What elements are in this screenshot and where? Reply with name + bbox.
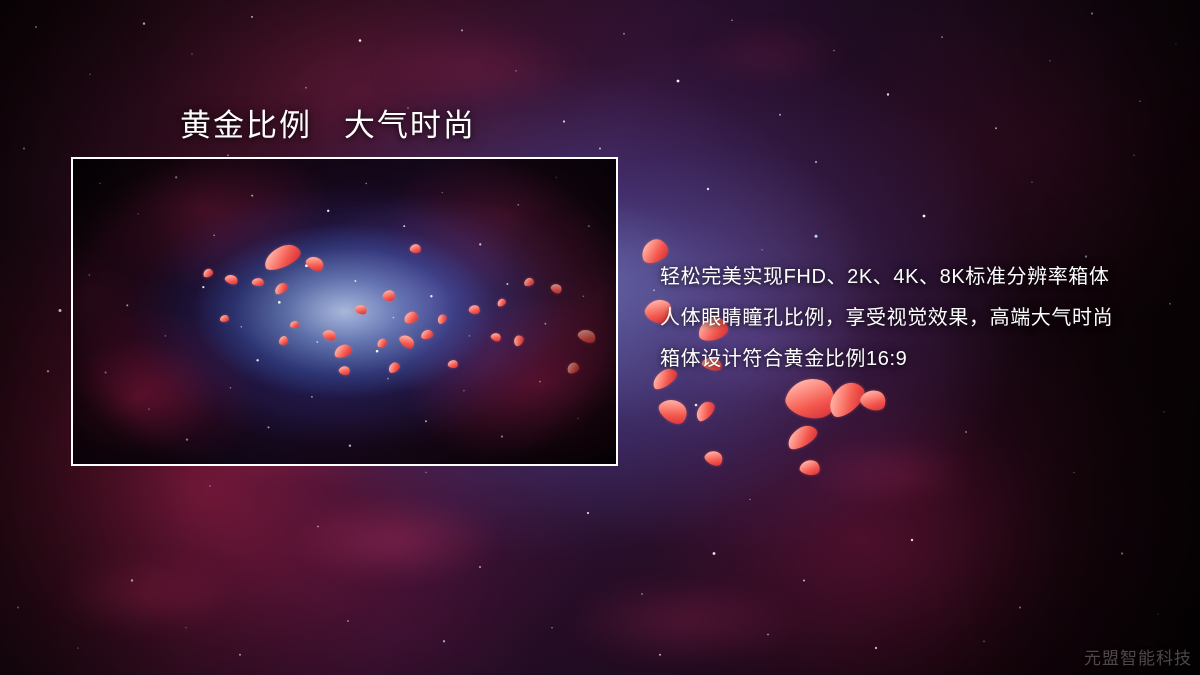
flower-petal (376, 337, 388, 348)
star (23, 148, 25, 150)
flower-petal (381, 288, 396, 302)
flower-petal (468, 304, 481, 316)
flower-petal (435, 312, 448, 325)
star (713, 552, 716, 555)
flower-petal (409, 243, 422, 255)
star (35, 26, 37, 28)
star (1157, 614, 1158, 615)
star (461, 29, 463, 31)
flower-petal (224, 272, 240, 286)
star (641, 593, 643, 595)
star (227, 154, 229, 156)
star (305, 87, 307, 89)
flower-petal (784, 422, 821, 453)
flower-petal (332, 343, 352, 359)
flower-petal (220, 315, 229, 322)
flower-petal (354, 303, 369, 316)
star (677, 80, 680, 83)
star (1139, 100, 1141, 102)
star (239, 654, 241, 656)
star (875, 647, 877, 649)
star (47, 370, 49, 372)
star (779, 114, 781, 116)
star (587, 512, 589, 514)
star (1019, 607, 1021, 609)
star (659, 654, 661, 656)
flower-petal (822, 376, 870, 421)
flower-petal (420, 329, 433, 340)
flower-petal (403, 310, 419, 324)
star (911, 539, 913, 541)
star (833, 50, 834, 51)
star (77, 647, 79, 649)
star (143, 22, 145, 24)
star (563, 120, 565, 122)
star (707, 188, 709, 190)
star (815, 235, 818, 238)
star (59, 309, 62, 312)
flower-petal (523, 277, 534, 287)
flower-petal (858, 386, 889, 414)
flower-petal (495, 298, 506, 308)
star (995, 127, 997, 129)
flower-petal (321, 327, 337, 342)
flower-petal (304, 253, 326, 274)
star (425, 472, 426, 473)
body-line-3: 箱体设计符合黄金比例16:9 (660, 339, 1180, 380)
flower-petal (655, 393, 691, 428)
star (653, 289, 655, 291)
star (515, 70, 516, 71)
star (347, 620, 349, 622)
flower-petal (576, 326, 598, 345)
flower-petal (273, 281, 290, 296)
body-line-2: 人体眼睛瞳孔比例，享受视觉效果，高端大气时尚 (660, 298, 1180, 339)
flower-petal (252, 277, 265, 287)
star (815, 161, 817, 163)
flower-petal (490, 331, 503, 343)
star (185, 627, 186, 628)
company-watermark: 元盟智能科技 (1084, 644, 1192, 669)
body-line-1: 轻松完美实现FHD、2K、4K、8K标准分辨率箱体 (660, 257, 1180, 298)
flower-petal (549, 282, 563, 296)
star (359, 39, 362, 42)
panel-petals-layer (73, 159, 616, 464)
star (1163, 411, 1165, 413)
star (1049, 60, 1051, 62)
flower-petal (703, 447, 726, 468)
star (923, 215, 926, 218)
star (191, 53, 192, 54)
star (599, 148, 601, 150)
star (749, 499, 750, 500)
body-text-block: 轻松完美实现FHD、2K、4K、8K标准分辨率箱体 人体眼睛瞳孔比例，享受视觉效… (660, 257, 1180, 380)
star (983, 640, 985, 642)
star (1121, 552, 1123, 554)
star (317, 526, 319, 528)
star (89, 73, 91, 75)
star (209, 485, 210, 486)
star (857, 391, 859, 393)
flower-petal (290, 321, 299, 328)
flower-petal (386, 361, 401, 375)
star (1175, 43, 1176, 44)
flower-petal (397, 332, 416, 351)
flower-petal (566, 362, 581, 376)
star (965, 431, 967, 433)
star (887, 93, 889, 95)
star (767, 634, 769, 636)
flower-petal (279, 336, 288, 345)
star (17, 607, 19, 609)
star (1073, 472, 1074, 473)
star (131, 579, 133, 581)
star (443, 640, 445, 642)
flower-petal (614, 278, 618, 294)
page-title: 黄金比例 大气时尚 (180, 100, 476, 145)
star (803, 580, 805, 582)
flower-petal (447, 359, 458, 369)
star (761, 249, 762, 250)
flower-petal (511, 333, 525, 347)
star (695, 404, 698, 407)
flower-petal (338, 365, 352, 377)
presentation-slide: 黄金比例 大气时尚 轻松完美实现FHD、2K、4K、8K标准分辨率箱体 人体眼睛… (0, 0, 1200, 675)
flower-petal (799, 458, 822, 477)
star (251, 16, 253, 18)
star (1133, 154, 1135, 156)
star (1091, 12, 1093, 14)
star (1031, 182, 1032, 183)
star (479, 566, 481, 568)
flower-petal (692, 398, 718, 423)
star (731, 19, 733, 21)
star (551, 627, 553, 629)
flower-petal (202, 267, 214, 278)
star (623, 33, 625, 35)
image-panel-frame (71, 157, 618, 466)
star (941, 36, 943, 38)
flower-petal (261, 241, 304, 274)
